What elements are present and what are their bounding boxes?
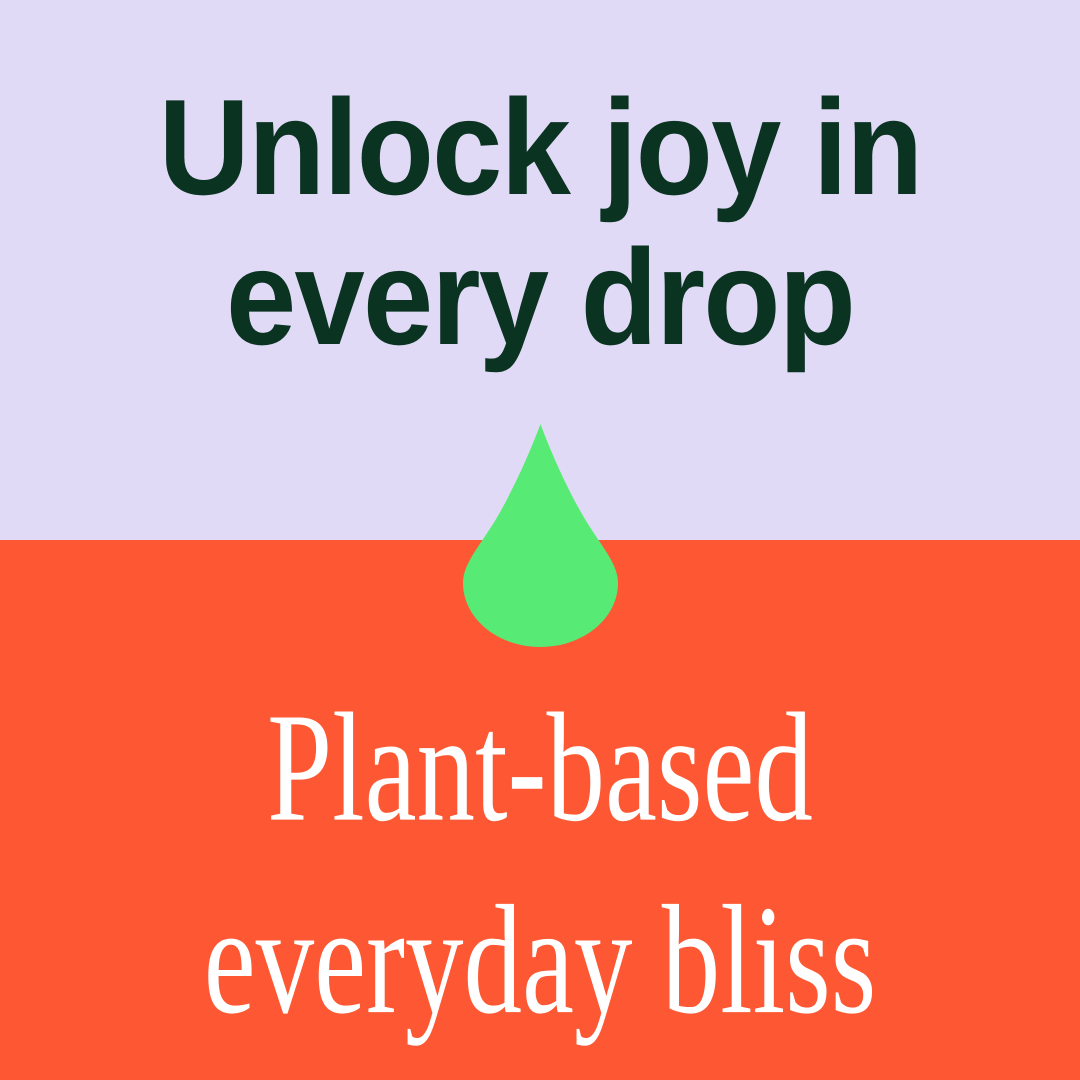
- headline-line-1: Unlock joy in: [38, 72, 1042, 222]
- droplet-graphic: [463, 424, 618, 647]
- subline: Plant-based everyday bliss: [119, 672, 961, 1057]
- headline-line-2: every drop: [38, 222, 1042, 372]
- promo-poster: Unlock joy in every drop Plant-based eve…: [0, 0, 1080, 1080]
- subline-line-1: Plant-based: [119, 672, 961, 864]
- headline: Unlock joy in every drop: [38, 72, 1042, 372]
- subline-line-2: everyday bliss: [119, 864, 961, 1056]
- water-drop-icon: [463, 424, 618, 647]
